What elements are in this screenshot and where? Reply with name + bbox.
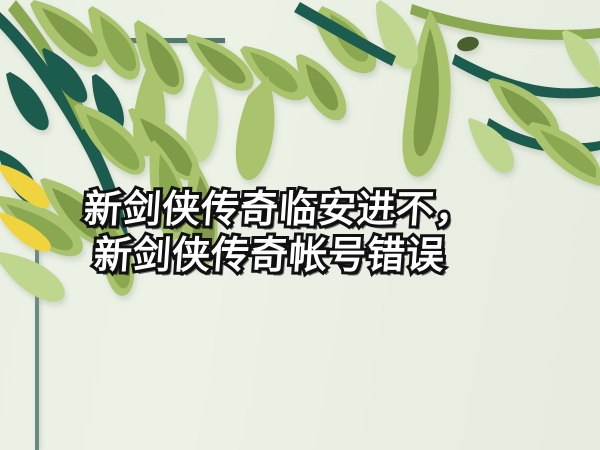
horizontal-rule-decor [70,38,225,43]
poster-headline: 新剑侠传奇临安进不， 新剑侠传奇帐号错误 [0,186,600,278]
headline-line-1: 新剑侠传奇临安进不， [82,186,600,232]
poster-canvas: 新剑侠传奇临安进不， 新剑侠传奇帐号错误 [0,0,600,450]
headline-line-2: 新剑侠传奇帐号错误 [92,232,600,278]
